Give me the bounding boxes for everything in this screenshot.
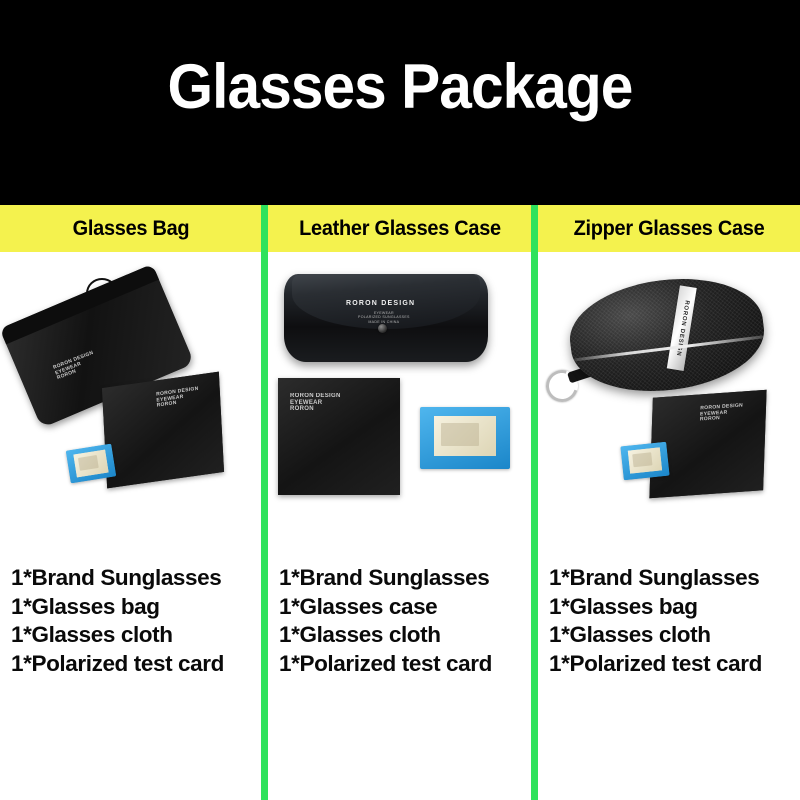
leather-case-brand-print: RORON DESIGN: [346, 300, 415, 307]
item-list-glasses-bag: 1*Brand Sunglasses 1*Glasses bag 1*Glass…: [0, 564, 261, 678]
microfiber-cloth: RORON DESIGNEYEWEARRORON: [102, 372, 224, 489]
microfiber-cloth: RORON DESIGNEYEWEARRORON: [278, 378, 400, 495]
microfiber-cloth: RORON DESIGNEYEWEARRORON: [649, 390, 766, 498]
list-item: 1*Brand Sunglasses: [549, 564, 800, 593]
column-header-zipper-glasses-case: Zipper Glasses Case: [545, 205, 794, 252]
zipper-hard-case: RORON DESIGN: [564, 269, 770, 402]
list-item: 1*Brand Sunglasses: [11, 564, 261, 593]
test-card-window: [73, 450, 108, 478]
item-list-leather-case: 1*Brand Sunglasses 1*Glasses case 1*Glas…: [268, 564, 531, 678]
page-title: Glasses Package: [28, 52, 772, 122]
column-divider-2: [531, 205, 538, 800]
pouch-neck: [0, 264, 159, 345]
list-item: 1*Glasses bag: [549, 593, 800, 622]
polarized-test-card: [620, 442, 669, 481]
leather-case-snap-button: [378, 324, 387, 333]
cloth-brand-print: RORON DESIGNEYEWEARRORON: [290, 393, 341, 413]
list-item: 1*Polarized test card: [549, 650, 800, 679]
polarized-test-card: [420, 407, 510, 469]
column-header-leather-glasses-case: Leather Glasses Case: [275, 205, 526, 252]
column-glasses-bag: RORON DESIGNEYEWEARRORON RORON DESIGNEYE…: [0, 252, 261, 800]
test-card-window: [628, 447, 662, 473]
list-item: 1*Polarized test card: [279, 650, 531, 679]
list-item: 1*Glasses cloth: [11, 621, 261, 650]
column-zipper-glasses-case: RORON DESIGN RORON DESIGNEYEWEARRORON 1*…: [538, 252, 800, 800]
column-divider-1: [261, 205, 268, 800]
leather-case: RORON DESIGN EYEWEARPOLARIZED SUNGLASSES…: [284, 274, 488, 362]
product-photo-leather-case: RORON DESIGN EYEWEARPOLARIZED SUNGLASSES…: [268, 252, 531, 562]
product-photo-zipper-case: RORON DESIGN RORON DESIGNEYEWEARRORON: [538, 252, 800, 562]
case-mesh-texture: [564, 269, 770, 402]
list-item: 1*Glasses case: [279, 593, 531, 622]
cloth-brand-print: RORON DESIGNEYEWEARRORON: [156, 387, 199, 409]
list-item: 1*Glasses cloth: [279, 621, 531, 650]
product-photo-glasses-bag: RORON DESIGNEYEWEARRORON RORON DESIGNEYE…: [0, 252, 261, 562]
list-item: 1*Glasses bag: [11, 593, 261, 622]
leather-case-sub-print: EYEWEARPOLARIZED SUNGLASSESMADE IN CHINA: [358, 311, 410, 324]
test-card-window: [434, 416, 496, 456]
list-item: 1*Glasses cloth: [549, 621, 800, 650]
column-leather-glasses-case: RORON DESIGN EYEWEARPOLARIZED SUNGLASSES…: [268, 252, 531, 800]
pouch-brand-print: RORON DESIGNEYEWEARRORON: [53, 351, 99, 382]
column-header-glasses-bag: Glasses Bag: [7, 205, 256, 252]
list-item: 1*Brand Sunglasses: [279, 564, 531, 593]
item-list-zipper-case: 1*Brand Sunglasses 1*Glasses bag 1*Glass…: [538, 564, 800, 678]
cloth-brand-print: RORON DESIGNEYEWEARRORON: [700, 403, 743, 423]
glasses-package-infographic: Glasses Package Glasses Bag Leather Glas…: [0, 0, 800, 800]
list-item: 1*Polarized test card: [11, 650, 261, 679]
